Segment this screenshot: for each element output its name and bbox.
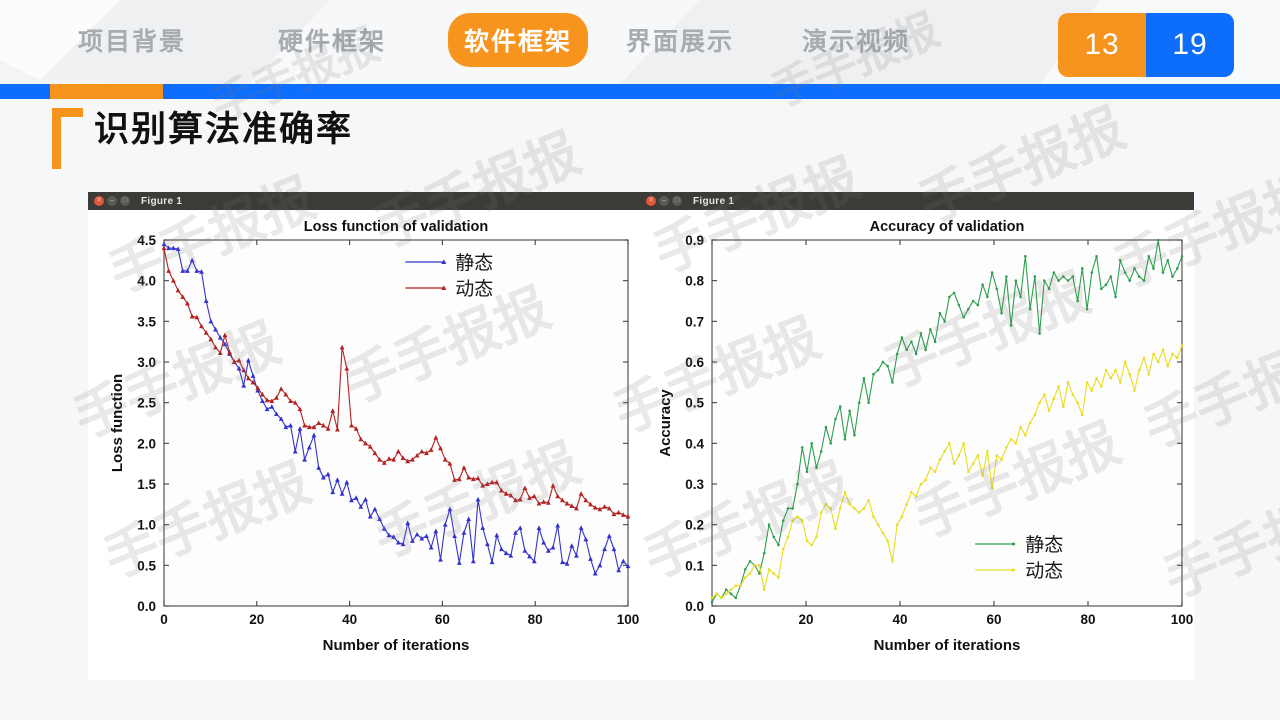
data-point <box>948 442 951 445</box>
data-point <box>782 519 785 522</box>
data-point <box>1100 288 1103 291</box>
data-point <box>1067 279 1070 282</box>
y-tick-label: 2.0 <box>137 436 156 451</box>
data-point <box>1109 275 1112 278</box>
data-point <box>967 471 970 474</box>
data-point <box>905 349 908 352</box>
data-point <box>943 450 946 453</box>
data-point <box>943 320 946 323</box>
data-point <box>1095 377 1098 380</box>
figure-2-title: Figure 1 <box>693 196 734 207</box>
data-point <box>1171 275 1174 278</box>
data-point <box>1062 405 1065 408</box>
data-point <box>1143 279 1146 282</box>
data-point <box>1081 414 1084 417</box>
data-point <box>1034 275 1037 278</box>
data-point <box>858 511 861 514</box>
data-point <box>1005 446 1008 449</box>
figure-window-1[interactable]: ✕ – □ Figure 1 Loss function of validati… <box>88 192 640 680</box>
data-point <box>1090 389 1093 392</box>
data-point <box>901 515 904 518</box>
data-point <box>1114 296 1117 299</box>
y-tick-label: 0.0 <box>137 599 156 614</box>
data-point <box>763 552 766 555</box>
data-point <box>958 454 961 457</box>
legend-label: 动态 <box>455 278 493 300</box>
data-point <box>810 442 813 445</box>
y-tick-label: 0.7 <box>685 314 704 329</box>
y-tick-label: 3.5 <box>137 314 156 329</box>
legend-marker <box>1012 543 1015 546</box>
data-point <box>1133 389 1136 392</box>
data-point <box>1171 353 1174 356</box>
y-tick-label: 0.6 <box>685 355 704 370</box>
data-point <box>1000 312 1003 315</box>
data-point <box>1181 255 1184 258</box>
data-point <box>1015 442 1018 445</box>
data-point <box>910 340 913 343</box>
legend-label: 静态 <box>455 252 493 274</box>
legend-label: 静态 <box>1025 534 1063 556</box>
maximize-icon[interactable]: □ <box>120 196 130 206</box>
x-axis-label: Number of iterations <box>874 637 1021 654</box>
data-point <box>744 576 747 579</box>
data-point <box>787 507 790 510</box>
data-point <box>1181 344 1184 347</box>
data-point <box>777 576 780 579</box>
data-point <box>734 597 737 600</box>
data-point <box>844 491 847 494</box>
data-point <box>877 369 880 372</box>
data-point <box>753 564 756 567</box>
plot-frame <box>164 240 628 606</box>
data-point <box>1048 288 1051 291</box>
data-point <box>958 304 961 307</box>
data-point <box>1133 267 1136 270</box>
data-point <box>1062 275 1065 278</box>
data-point <box>934 471 937 474</box>
data-point <box>820 511 823 514</box>
data-point <box>886 365 889 368</box>
data-point <box>1157 239 1160 242</box>
page-title: 识别算法准确率 <box>94 112 353 147</box>
data-point <box>1090 271 1093 274</box>
data-point <box>744 568 747 571</box>
data-point <box>896 353 899 356</box>
data-point <box>820 450 823 453</box>
y-tick-label: 0.4 <box>685 436 704 451</box>
data-point <box>981 283 984 286</box>
data-point <box>858 401 861 404</box>
data-point <box>853 507 856 510</box>
data-point <box>891 381 894 384</box>
data-point <box>791 507 794 510</box>
y-tick-label: 0.5 <box>137 558 156 573</box>
data-point <box>920 332 923 335</box>
data-point <box>986 450 989 453</box>
data-point <box>910 491 913 494</box>
data-point <box>1038 401 1041 404</box>
data-point <box>1010 324 1013 327</box>
data-point <box>991 271 994 274</box>
close-icon[interactable]: ✕ <box>94 196 104 206</box>
data-point <box>815 466 818 469</box>
data-point <box>1086 381 1089 384</box>
data-point <box>1057 279 1060 282</box>
data-point <box>1128 279 1131 282</box>
page-indicator: 13 19 <box>1058 13 1234 77</box>
legend-label: 动态 <box>1025 560 1063 582</box>
figure-2-canvas: Accuracy of validation0204060801000.00.1… <box>640 210 1194 680</box>
data-point <box>791 519 794 522</box>
data-point <box>905 503 908 506</box>
data-point <box>1114 369 1117 372</box>
maximize-icon[interactable]: □ <box>672 196 682 206</box>
data-point <box>882 532 885 535</box>
data-point <box>806 471 809 474</box>
data-point <box>953 462 956 465</box>
data-point <box>1128 373 1131 376</box>
data-point <box>867 401 870 404</box>
data-point <box>1176 357 1179 360</box>
data-point <box>948 296 951 299</box>
data-point <box>782 548 785 551</box>
data-point <box>872 373 875 376</box>
y-tick-label: 1.0 <box>137 518 156 533</box>
data-point <box>711 601 714 604</box>
x-tick-label: 80 <box>528 612 543 627</box>
nav-tab-2[interactable]: 软件框架 <box>448 13 588 67</box>
figure-window-2[interactable]: ✕ – □ Figure 1 Accuracy of validation020… <box>640 192 1194 680</box>
data-point <box>991 487 994 490</box>
data-point <box>734 584 737 587</box>
data-point <box>962 316 965 319</box>
data-point <box>772 536 775 539</box>
data-point <box>891 560 894 563</box>
data-point <box>929 328 932 331</box>
data-point <box>872 515 875 518</box>
data-point <box>1124 361 1127 364</box>
data-point <box>1095 255 1098 258</box>
data-point <box>986 296 989 299</box>
data-point <box>1076 401 1079 404</box>
data-point <box>1119 259 1122 262</box>
y-tick-label: 0.9 <box>685 233 704 248</box>
data-point <box>977 454 980 457</box>
chart-title: Loss function of validation <box>304 219 488 235</box>
data-point <box>1138 275 1141 278</box>
nav-tab-1[interactable]: 硬件框架 <box>262 13 402 67</box>
data-point <box>953 292 956 295</box>
data-point <box>758 564 761 567</box>
data-point <box>1072 275 1075 278</box>
data-point <box>711 597 714 600</box>
data-point <box>1038 332 1041 335</box>
data-point <box>848 503 851 506</box>
y-tick-label: 0.3 <box>685 477 704 492</box>
data-point <box>1067 381 1070 384</box>
data-point <box>972 462 975 465</box>
data-point <box>1000 458 1003 461</box>
data-point <box>1053 271 1056 274</box>
data-point <box>1015 279 1018 282</box>
data-point <box>825 503 828 506</box>
figure-2-titlebar[interactable]: ✕ – □ Figure 1 <box>640 192 1194 210</box>
data-point <box>1162 349 1165 352</box>
data-point <box>863 377 866 380</box>
data-point <box>1081 267 1084 270</box>
data-point <box>848 410 851 413</box>
x-tick-label: 40 <box>342 612 357 627</box>
y-tick-label: 0.5 <box>685 396 704 411</box>
data-point <box>725 588 728 591</box>
data-point <box>1100 385 1103 388</box>
nav-tab-0[interactable]: 项目背景 <box>62 13 202 67</box>
minimize-icon[interactable]: – <box>659 196 669 206</box>
data-point <box>739 584 742 587</box>
data-point <box>863 507 866 510</box>
data-point <box>1176 267 1179 270</box>
data-point <box>896 523 899 526</box>
x-tick-label: 80 <box>1080 612 1095 627</box>
data-point <box>967 308 970 311</box>
data-point <box>996 288 999 291</box>
data-point <box>882 361 885 364</box>
figure-1-title: Figure 1 <box>141 196 182 207</box>
data-point <box>725 593 728 596</box>
data-point <box>1143 357 1146 360</box>
data-point <box>768 523 771 526</box>
figure-1-titlebar[interactable]: ✕ – □ Figure 1 <box>88 192 640 210</box>
y-tick-label: 0.2 <box>685 518 704 533</box>
data-point <box>720 597 723 600</box>
page-current: 13 <box>1058 13 1146 77</box>
data-point <box>787 536 790 539</box>
data-point <box>1048 410 1051 413</box>
data-point <box>1076 300 1079 303</box>
data-point <box>829 442 832 445</box>
data-point <box>1166 259 1169 262</box>
data-point <box>730 588 733 591</box>
data-point <box>1105 369 1108 372</box>
data-point <box>1019 296 1022 299</box>
x-tick-label: 60 <box>435 612 450 627</box>
data-point <box>777 544 780 547</box>
data-point <box>972 300 975 303</box>
data-point <box>920 483 923 486</box>
data-point <box>1043 279 1046 282</box>
data-point <box>1119 381 1122 384</box>
data-point <box>939 312 942 315</box>
data-point <box>977 304 980 307</box>
data-point <box>939 458 942 461</box>
data-point <box>934 340 937 343</box>
data-point <box>996 454 999 457</box>
x-tick-label: 100 <box>617 612 640 627</box>
data-point <box>825 426 828 429</box>
data-point <box>749 572 752 575</box>
header-bar: 项目背景 硬件框架 软件框架 界面展示 演示视频 13 19 <box>0 0 1280 80</box>
data-point <box>715 593 718 596</box>
data-point <box>772 572 775 575</box>
x-axis-label: Number of iterations <box>323 637 470 654</box>
data-point <box>1043 393 1046 396</box>
data-point <box>915 495 918 498</box>
data-point <box>806 540 809 543</box>
data-point <box>1109 377 1112 380</box>
legend-marker <box>1012 569 1015 572</box>
close-icon[interactable]: ✕ <box>646 196 656 206</box>
nav-tab-4[interactable]: 演示视频 <box>786 13 926 67</box>
y-tick-label: 3.0 <box>137 355 156 370</box>
data-point <box>796 483 799 486</box>
data-point <box>929 466 932 469</box>
data-point <box>749 560 752 563</box>
data-point <box>839 405 842 408</box>
data-point <box>1138 369 1141 372</box>
data-point <box>924 479 927 482</box>
data-point <box>1152 353 1155 356</box>
data-point <box>1053 397 1056 400</box>
data-point <box>1124 271 1127 274</box>
data-point <box>1010 438 1013 441</box>
data-point <box>1029 308 1032 311</box>
data-point <box>1157 361 1160 364</box>
data-point <box>1034 414 1037 417</box>
y-axis-label: Loss function <box>109 374 126 472</box>
chart-title: Accuracy of validation <box>870 219 1025 235</box>
title-corner-mark <box>52 108 83 169</box>
x-tick-label: 100 <box>1171 612 1194 627</box>
data-point <box>877 523 880 526</box>
header-orange-accent <box>50 84 163 99</box>
data-point <box>834 527 837 530</box>
data-point <box>815 536 818 539</box>
data-point <box>1152 267 1155 270</box>
chart-0: Loss function of validation0204060801000… <box>88 210 640 680</box>
y-tick-label: 0.0 <box>685 599 704 614</box>
y-tick-label: 0.8 <box>685 274 704 289</box>
y-tick-label: 4.0 <box>137 274 156 289</box>
data-point <box>867 499 870 502</box>
data-point <box>810 544 813 547</box>
data-point <box>1057 385 1060 388</box>
data-point <box>1072 393 1075 396</box>
data-point <box>924 349 927 352</box>
data-point <box>1147 255 1150 258</box>
figure-1-canvas: Loss function of validation0204060801000… <box>88 210 640 680</box>
data-point <box>1024 434 1027 437</box>
data-point <box>1166 365 1169 368</box>
data-point <box>886 540 889 543</box>
data-point <box>1005 275 1008 278</box>
y-tick-label: 4.5 <box>137 233 156 248</box>
data-point <box>981 475 984 478</box>
chart-1: Accuracy of validation0204060801000.00.1… <box>640 210 1194 680</box>
data-point <box>834 418 837 421</box>
data-point <box>1086 308 1089 311</box>
data-point <box>801 446 804 449</box>
y-tick-label: 1.5 <box>137 477 156 492</box>
data-point <box>1019 426 1022 429</box>
data-point <box>730 593 733 596</box>
x-tick-label: 20 <box>249 612 264 627</box>
data-point <box>768 568 771 571</box>
data-point <box>962 442 965 445</box>
data-point <box>901 336 904 339</box>
y-tick-label: 2.5 <box>137 396 156 411</box>
data-point <box>839 507 842 510</box>
data-point <box>1162 271 1165 274</box>
minimize-icon[interactable]: – <box>107 196 117 206</box>
data-point <box>1029 422 1032 425</box>
data-point <box>796 515 799 518</box>
data-point <box>763 588 766 591</box>
header-blue-rule <box>0 84 1280 99</box>
y-axis-label: Accuracy <box>657 389 674 457</box>
x-tick-label: 60 <box>986 612 1001 627</box>
slide-title-block: 识别算法准确率 <box>52 106 353 169</box>
data-point <box>1105 283 1108 286</box>
x-tick-label: 0 <box>160 612 168 627</box>
data-point <box>853 434 856 437</box>
y-tick-label: 0.1 <box>685 558 704 573</box>
x-tick-label: 0 <box>708 612 716 627</box>
page-total: 19 <box>1146 13 1234 77</box>
data-point <box>1024 255 1027 258</box>
x-tick-label: 40 <box>892 612 907 627</box>
data-point <box>801 519 804 522</box>
data-point <box>915 353 918 356</box>
data-point <box>1147 373 1150 376</box>
nav-tab-3[interactable]: 界面展示 <box>610 13 750 67</box>
x-tick-label: 20 <box>798 612 813 627</box>
data-point <box>844 438 847 441</box>
data-point <box>829 507 832 510</box>
